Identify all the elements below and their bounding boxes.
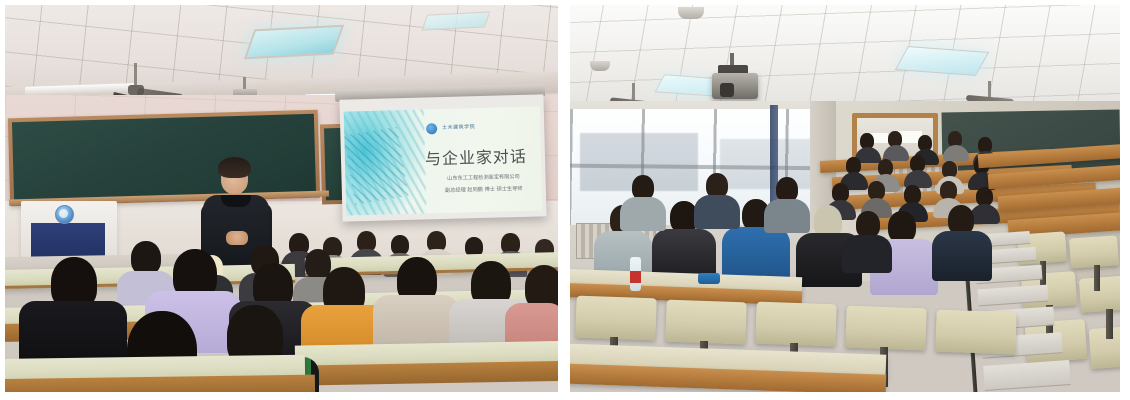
seat-support <box>1094 265 1100 291</box>
university-emblem-inner <box>59 209 68 218</box>
folding-seat <box>1069 235 1119 268</box>
folding-seat <box>935 310 1016 355</box>
lecture-hall-audience-photo[interactable] <box>570 5 1120 392</box>
student-head <box>391 235 409 255</box>
student-torso <box>694 195 740 229</box>
student-head <box>131 241 161 275</box>
drink-can <box>698 273 720 284</box>
water-bottle-label <box>630 271 641 283</box>
desk-side-panel <box>295 360 558 385</box>
presentation-slide: 土木建筑学院 与企业家对话 山东东工工程检测鉴定有限公司 副总经理 赵同鹏 博士… <box>344 106 543 215</box>
school-logo-label: 土木建筑学院 <box>442 123 475 131</box>
speaker-hands <box>226 231 248 245</box>
blackboard <box>12 114 316 201</box>
school-logo-icon <box>426 123 437 134</box>
speaker-hair <box>218 157 251 178</box>
ceiling-light-panel <box>244 25 344 60</box>
student-torso <box>932 231 992 281</box>
folding-seat <box>665 300 746 345</box>
ceiling-speaker-icon <box>678 7 704 19</box>
slide-subtitle-line-2: 副总经理 赵同鹏 博士 硕士生导师 <box>428 184 540 194</box>
folding-seat <box>845 306 926 351</box>
slide-subtitle-line-1: 山东东工工程检测鉴定有限公司 <box>427 172 539 182</box>
student-torso <box>764 199 810 233</box>
slide-feather-detail <box>344 127 409 205</box>
classroom-speaker-photo[interactable]: 土木建筑学院 与企业家对话 山东东工工程检测鉴定有限公司 副总经理 赵同鹏 博士… <box>5 5 558 392</box>
student-torso <box>620 197 666 231</box>
slide-title: 与企业家对话 <box>425 143 536 170</box>
projector-lens-icon <box>720 83 734 97</box>
folding-seat <box>575 296 656 341</box>
folding-seat <box>1089 325 1120 369</box>
seat-support <box>1106 309 1113 339</box>
ceiling-speaker-icon <box>590 61 610 71</box>
student-head <box>856 211 880 238</box>
speaker-collar <box>221 195 251 207</box>
photo-gallery: 土木建筑学院 与企业家对话 山东东工工程检测鉴定有限公司 副总经理 赵同鹏 博士… <box>0 0 1130 400</box>
student-torso <box>842 235 892 273</box>
aisle-step <box>983 360 1071 391</box>
ceiling-projector-icon <box>712 73 758 99</box>
folding-seat <box>755 302 836 347</box>
